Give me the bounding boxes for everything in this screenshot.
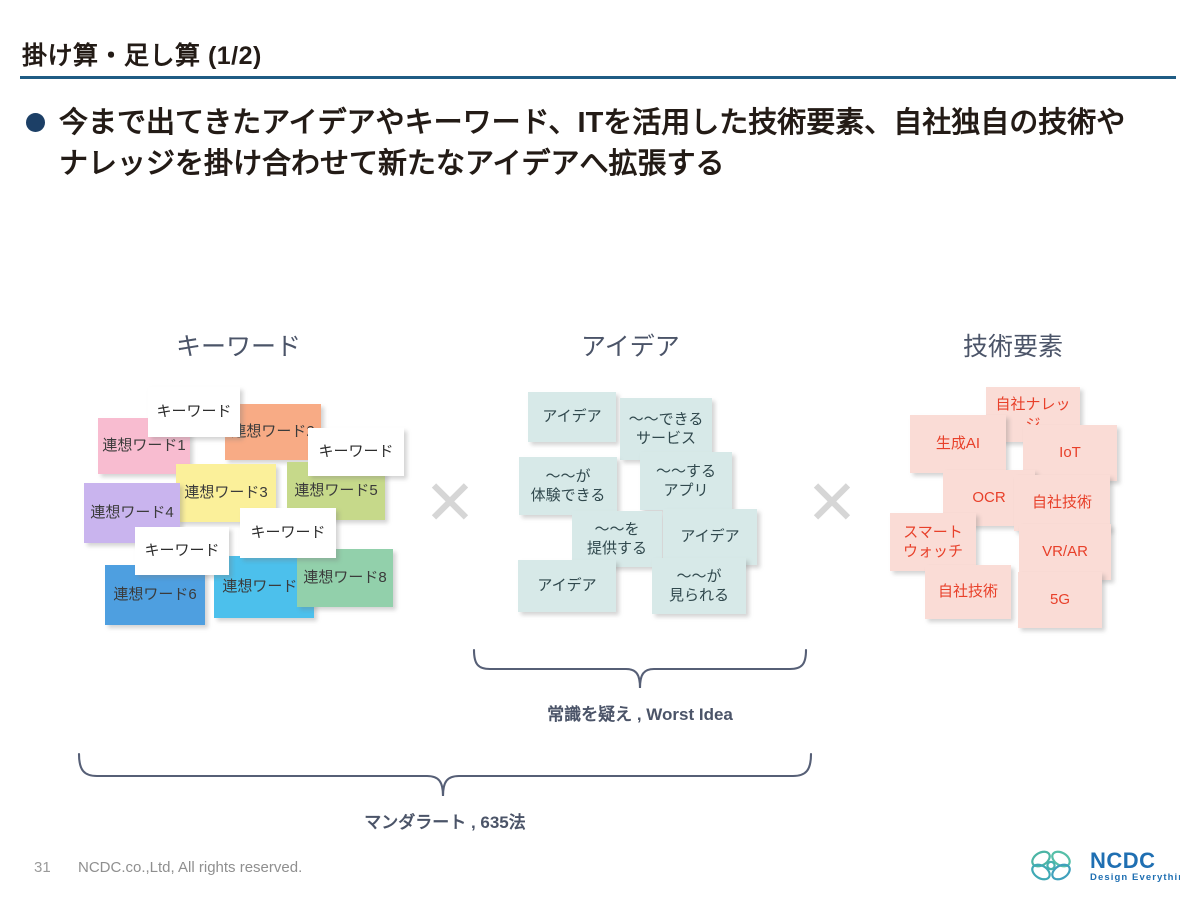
keyword-card: キーワード [135,527,229,575]
idea-card: ～～を 提供する [572,511,662,567]
keyword-card-label: 連想ワード4 [90,503,173,522]
tech-card-label: VR/AR [1042,542,1088,561]
idea-card: アイデア [528,392,616,442]
tech-card: 自社技術 [925,565,1011,619]
idea-card-label: アイデア [680,527,739,546]
copyright-text: NCDC.co.,Ltd, All rights reserved. [78,859,302,876]
tech-card-label: OCR [972,488,1005,507]
keyword-card-label: 連想ワード8 [303,568,386,587]
idea-card-label: ～～を 提供する [587,520,647,558]
tech-card-label: IoT [1059,443,1081,462]
column-heading-idea: アイデア [581,327,680,363]
idea-card-label: ～～する アプリ [656,462,716,500]
keyword-card-label: 連想ワード1 [102,436,185,455]
tech-card-label: 生成AI [936,434,980,453]
lead-paragraph: 今まで出てきたアイデアやキーワード、ITを活用した技術要素、自社独自の技術やナレ… [26,103,1176,185]
ncdc-logo: NCDC Design Everything [1028,845,1180,885]
multiply-icon: ✕ [806,473,858,535]
idea-brace-label: 常識を疑え , Worst Idea [470,700,810,725]
idea-card-label: アイデア [542,407,601,426]
tech-card: 5G [1018,572,1102,628]
column-heading-tech: 技術要素 [963,327,1063,363]
keyword-card-label: キーワード [144,541,219,560]
idea-card: アイデア [518,560,616,612]
slide-canvas: 掛け算・足し算 (1/2) 今まで出てきたアイデアやキーワード、ITを活用した技… [0,0,1200,900]
idea-card-label: アイデア [537,576,596,595]
keyword-card-label: キーワード [318,442,393,461]
idea-card-label: ～～できる サービス [629,410,704,448]
idea-card-label: ～～が 見られる [669,567,729,605]
idea-card: ～～できる サービス [620,398,712,460]
tech-card: IoT [1023,425,1117,481]
tech-card-label: 自社技術 [938,582,998,601]
keyword-card-label: 連想ワード2 [231,422,314,441]
keyword-card: キーワード [240,508,336,558]
column-heading-keyword: キーワード [176,327,301,363]
title-divider [20,76,1176,79]
idea-card: ～～する アプリ [640,452,732,510]
idea-card: アイデア [663,509,757,565]
logo-wordmark: NCDC [1090,848,1156,873]
keyword-card-label: キーワード [250,523,325,542]
tech-card-label: スマート ウォッチ [903,523,963,561]
tech-card: 生成AI [910,415,1006,473]
idea-card: ～～が 体験できる [519,457,617,515]
lead-text: 今まで出てきたアイデアやキーワード、ITを活用した技術要素、自社独自の技術やナレ… [59,103,1149,185]
keyword-card-label: 連想ワード7 [222,577,305,596]
keyword-card: キーワード [148,387,240,437]
keyword-card-label: 連想ワード3 [184,483,267,502]
idea-card-label: ～～が 体験できる [531,467,606,505]
tech-card: スマート ウォッチ [890,513,976,571]
multiply-icon: ✕ [424,473,476,535]
all-brace-label: マンダラート , 635法 [75,808,815,833]
tech-card-label: 自社技術 [1032,493,1092,512]
keyword-card-label: キーワード [156,402,231,421]
keyword-card-label: 連想ワード5 [294,481,377,500]
bullet-icon [26,113,45,132]
idea-card: ～～が 見られる [652,558,746,614]
keyword-card: キーワード [308,428,404,476]
idea-brace [470,648,810,695]
all-brace [75,752,815,803]
logo-tagline: Design Everything [1090,872,1180,883]
page-title: 掛け算・足し算 (1/2) [22,36,262,72]
tech-card: 自社技術 [1014,475,1110,531]
page-number: 31 [34,859,51,876]
logo-petal-mark [1030,849,1073,883]
keyword-card-label: 連想ワード6 [113,585,196,604]
tech-card-label: 5G [1050,590,1070,609]
